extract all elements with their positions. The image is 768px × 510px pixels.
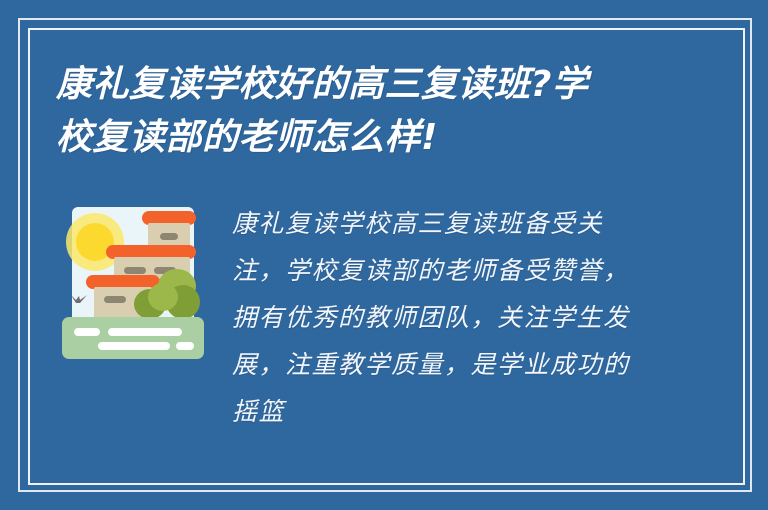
poster-canvas: 康礼复读学校好的高三复读班?学 校复读部的老师怎么样! bbox=[0, 0, 768, 510]
text-bar-row1-short bbox=[74, 328, 100, 336]
text-bar-row2-long bbox=[98, 342, 170, 350]
school-campus-illustration bbox=[62, 207, 204, 359]
headline-line-2: 校复读部的老师怎么样! bbox=[56, 111, 696, 164]
poster-headline: 康礼复读学校好的高三复读班?学 校复读部的老师怎么样! bbox=[56, 58, 696, 164]
bush-light-mid bbox=[148, 283, 178, 311]
info-card-panel bbox=[62, 317, 204, 359]
text-bar-row1-long bbox=[108, 328, 182, 336]
poster-content: 康礼复读学校高三复读班备受关注，学校复读部的老师备受赞誉，拥有优秀的教师团队，关… bbox=[56, 200, 656, 450]
headline-line-1: 康礼复读学校好的高三复读班?学 bbox=[56, 58, 696, 111]
building-window-middle-left bbox=[124, 267, 146, 274]
poster-body-paragraph: 康礼复读学校高三复读班备受关注，学校复读部的老师备受赞誉，拥有优秀的教师团队，关… bbox=[232, 200, 652, 435]
text-bar-row2-short bbox=[176, 342, 194, 350]
bird-icon bbox=[71, 290, 87, 301]
building-window-top bbox=[160, 233, 178, 240]
building-window-front bbox=[104, 296, 126, 303]
